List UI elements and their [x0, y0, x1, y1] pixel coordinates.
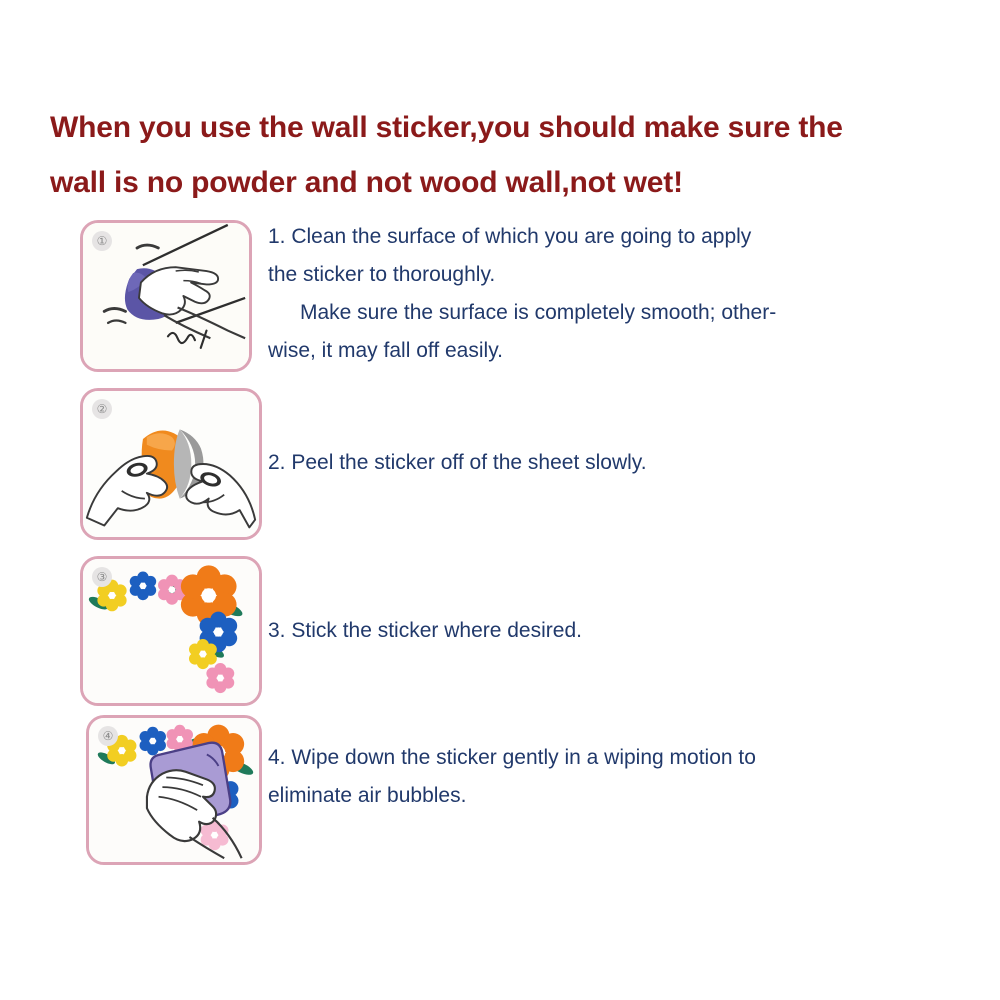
step-4-illustration-panel: ④ — [86, 715, 262, 865]
step-2-number-badge: ② — [92, 399, 112, 419]
step-2-line-1: 2. Peel the sticker off of the sheet slo… — [268, 444, 647, 482]
step-3-illustration-panel: ③ — [80, 556, 262, 706]
step-4-number-badge: ④ — [98, 726, 118, 746]
step-4-text: 4. Wipe down the sticker gently in a wip… — [268, 739, 756, 815]
page-title: When you use the wall sticker,you should… — [50, 100, 970, 210]
step-1-text: 1. Clean the surface of which you are go… — [268, 218, 776, 370]
step-1-line-4: wise, it may fall off easily. — [268, 332, 776, 370]
step-1-number-badge: ① — [92, 231, 112, 251]
page-title-line-1: When you use the wall sticker,you should… — [50, 100, 970, 155]
step-3-text: 3. Stick the sticker where desired. — [268, 612, 582, 650]
step-1-line-2: the sticker to thoroughly. — [268, 256, 776, 294]
step-4-line-1: 4. Wipe down the sticker gently in a wip… — [268, 739, 756, 777]
step-2-text: 2. Peel the sticker off of the sheet slo… — [268, 444, 647, 482]
step-3-number-badge: ③ — [92, 567, 112, 587]
step-1-illustration-panel: ① — [80, 220, 252, 372]
step-3-line-1: 3. Stick the sticker where desired. — [268, 612, 582, 650]
step-4-line-2: eliminate air bubbles. — [268, 777, 756, 815]
step-2-illustration-panel: ② — [80, 388, 262, 540]
document-page: When you use the wall sticker,you should… — [0, 0, 1000, 1000]
page-title-line-2: wall is no powder and not wood wall,not … — [50, 155, 970, 210]
step-1-line-1: 1. Clean the surface of which you are go… — [268, 218, 776, 256]
step-1-line-3: Make sure the surface is completely smoo… — [268, 294, 776, 332]
